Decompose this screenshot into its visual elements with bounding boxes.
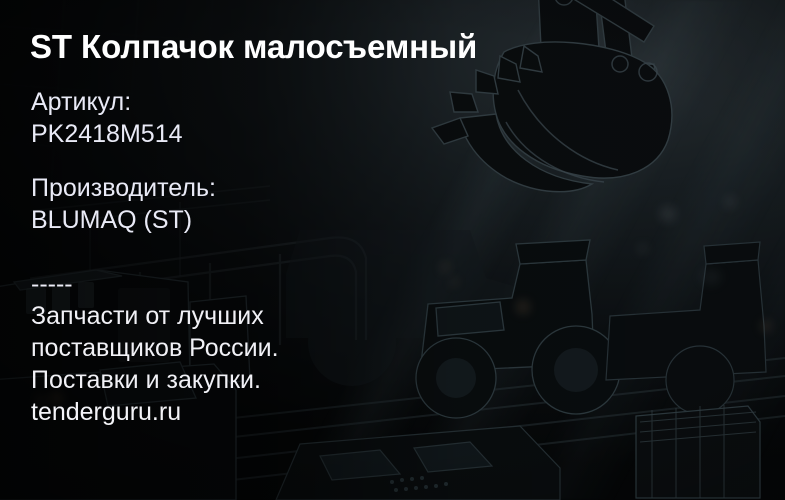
promo-block: ----- Запчасти от лучших поставщиков Рос…	[31, 268, 279, 428]
article-label: Артикул:	[31, 86, 183, 118]
manufacturer-label: Производитель:	[31, 172, 216, 204]
manufacturer-value: BLUMAQ (ST)	[31, 204, 216, 236]
promo-line-3: Поставки и закупки.	[31, 364, 279, 396]
page-title: ST Колпачок малосъемный	[30, 28, 477, 66]
promo-line-1: Запчасти от лучших	[31, 300, 279, 332]
promo-divider: -----	[31, 268, 279, 300]
text-layer: ST Колпачок малосъемный Артикул: PK2418M…	[0, 0, 785, 500]
article-block: Артикул: PK2418M514	[31, 86, 183, 150]
product-banner: ST Колпачок малосъемный Артикул: PK2418M…	[0, 0, 785, 500]
site-url: tenderguru.ru	[31, 396, 279, 428]
promo-line-2: поставщиков России.	[31, 332, 279, 364]
article-value: PK2418M514	[31, 118, 183, 150]
manufacturer-block: Производитель: BLUMAQ (ST)	[31, 172, 216, 236]
